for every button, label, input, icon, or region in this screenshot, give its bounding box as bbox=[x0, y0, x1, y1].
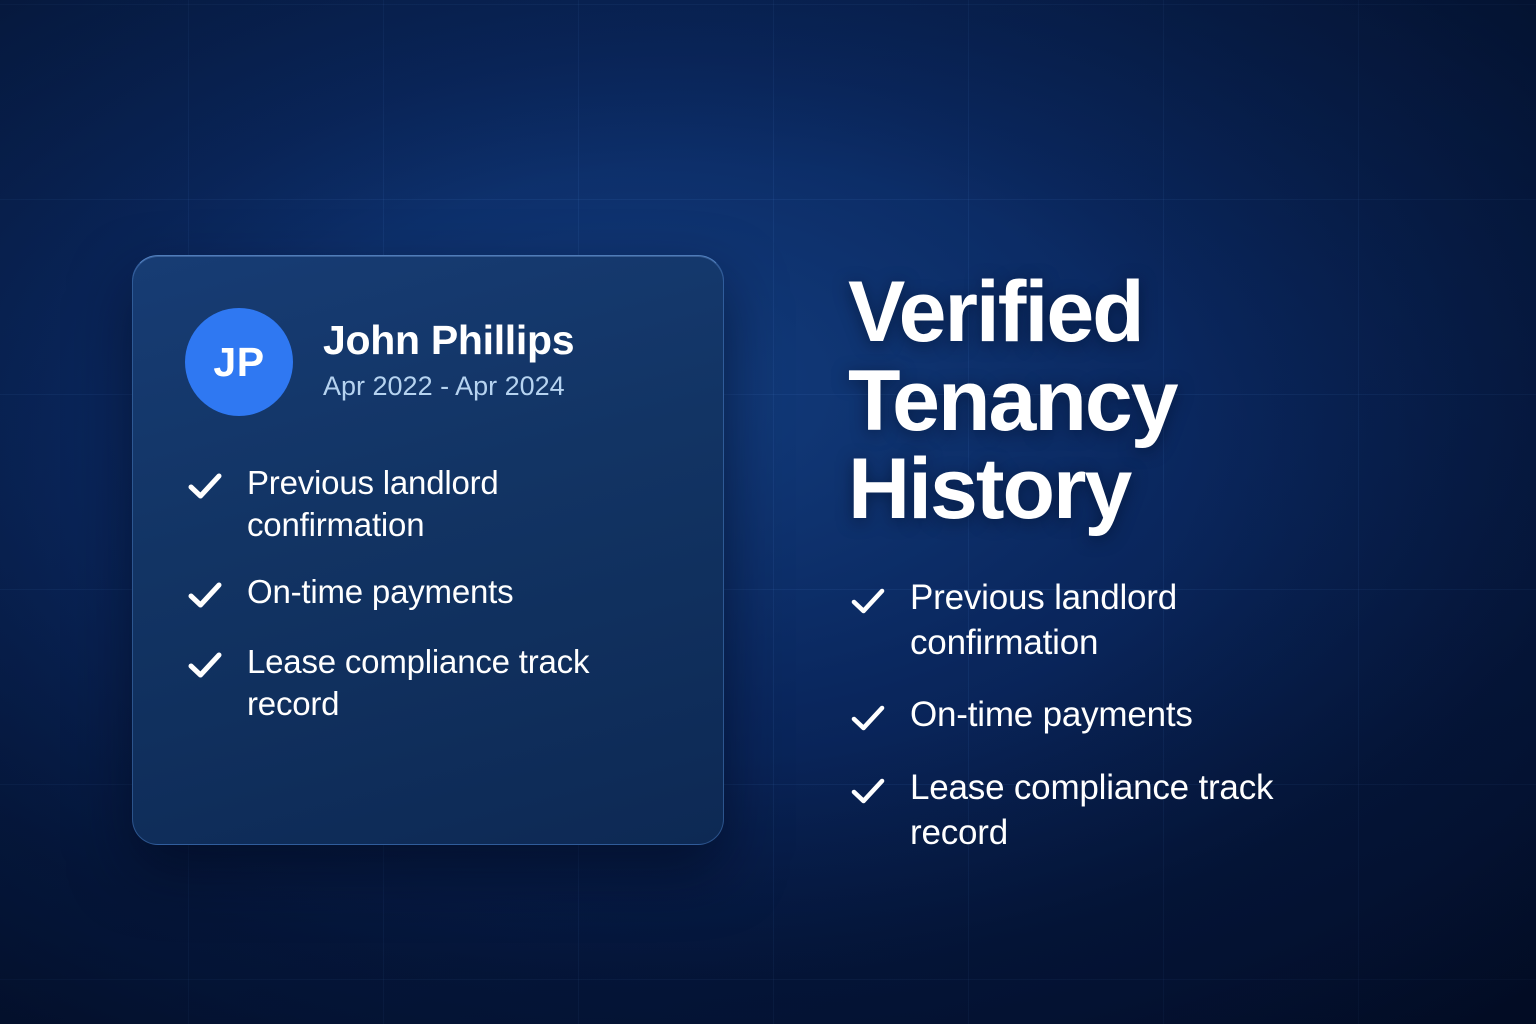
benefit-label: Previous landlord confirmation bbox=[910, 576, 1310, 666]
benefit-list: Previous landlord confirmation On-time p… bbox=[848, 576, 1448, 856]
headline-column: Verified Tenancy History Previous landlo… bbox=[848, 268, 1448, 856]
card-feature-item: Previous landlord confirmation bbox=[185, 462, 677, 545]
benefit-label: On-time payments bbox=[910, 693, 1193, 738]
check-icon bbox=[185, 575, 225, 615]
check-icon bbox=[848, 581, 888, 621]
promo-graphic: JP John Phillips Apr 2022 - Apr 2024 Pre… bbox=[0, 0, 1536, 1024]
benefit-item: On-time payments bbox=[848, 693, 1448, 738]
card-feature-list: Previous landlord confirmation On-time p… bbox=[185, 462, 677, 724]
benefit-item: Previous landlord confirmation bbox=[848, 576, 1448, 666]
check-icon bbox=[848, 698, 888, 738]
tenant-name: John Phillips bbox=[323, 318, 574, 362]
check-icon bbox=[185, 645, 225, 685]
check-icon bbox=[848, 771, 888, 811]
card-feature-label: Lease compliance track record bbox=[247, 641, 647, 724]
page-title: Verified Tenancy History bbox=[848, 268, 1448, 534]
card-feature-item: Lease compliance track record bbox=[185, 641, 677, 724]
check-icon bbox=[185, 466, 225, 506]
avatar: JP bbox=[185, 308, 293, 416]
benefit-label: Lease compliance track record bbox=[910, 766, 1310, 856]
tenant-identity: John Phillips Apr 2022 - Apr 2024 bbox=[323, 308, 574, 402]
card-feature-label: On-time payments bbox=[247, 571, 513, 613]
tenancy-date-range: Apr 2022 - Apr 2024 bbox=[323, 371, 574, 402]
tenant-card: JP John Phillips Apr 2022 - Apr 2024 Pre… bbox=[132, 255, 724, 845]
card-feature-label: Previous landlord confirmation bbox=[247, 462, 647, 545]
card-feature-item: On-time payments bbox=[185, 571, 677, 615]
benefit-item: Lease compliance track record bbox=[848, 766, 1448, 856]
tenant-header: JP John Phillips Apr 2022 - Apr 2024 bbox=[185, 308, 677, 416]
